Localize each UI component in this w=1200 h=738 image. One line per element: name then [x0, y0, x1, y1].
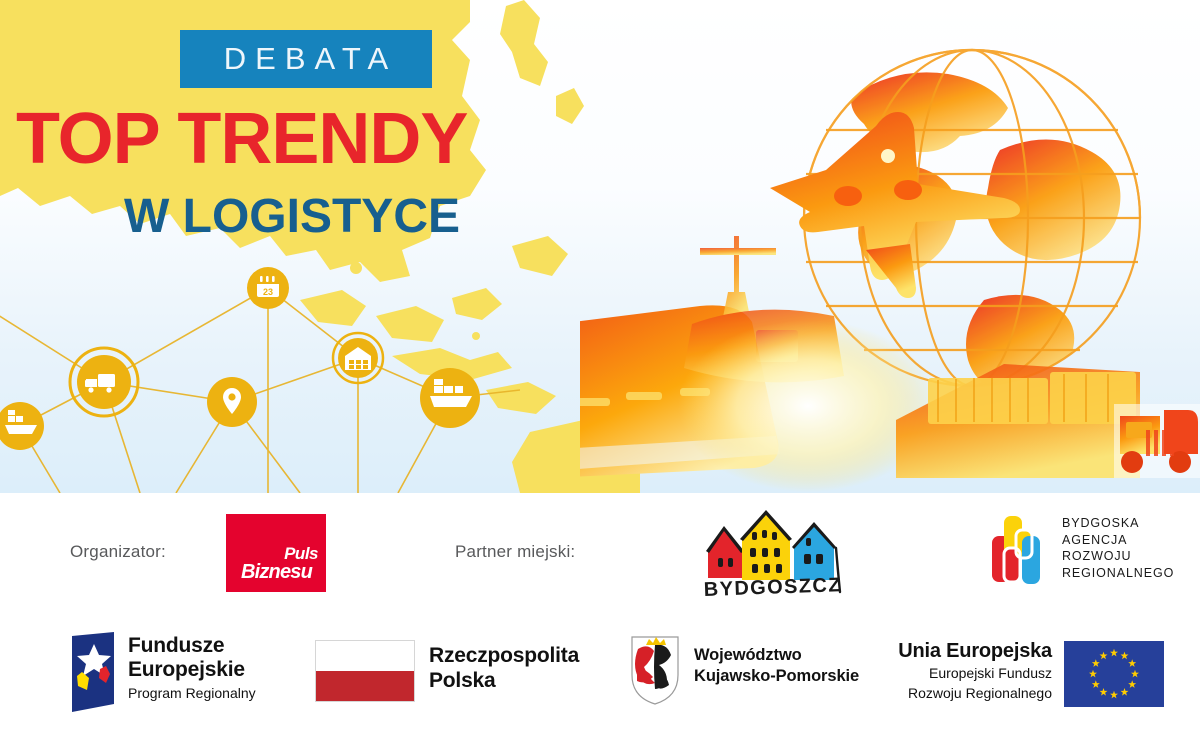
fundusze-title-2: Europejskie [128, 658, 256, 682]
city-partner-label: Partner miejski: [455, 542, 575, 562]
warehouse-icon [333, 333, 383, 383]
bydgoszcz-logo[interactable]: BYDGOSZCZ [690, 508, 850, 600]
unia-subtitle-1: Europejski Fundusz [880, 665, 1052, 683]
eu-flag-icon [1064, 641, 1164, 707]
house-red-icon [706, 526, 744, 578]
organizer-label: Organizator: [70, 542, 166, 562]
headline-block: DEBATA TOP TRENDY W LOGISTYCE [0, 0, 640, 280]
trucks-graphic [1114, 404, 1200, 478]
calendar-day-label: 23 [263, 287, 273, 297]
wojewodztwo-text: Województwo Kujawsko-Pomorskie [694, 645, 859, 687]
promo-banner: 23 [0, 0, 1200, 738]
debata-badge: DEBATA [180, 30, 432, 88]
truck-icon [70, 348, 138, 416]
fundusze-mark-icon [66, 632, 118, 712]
unia-subtitle-2: Rozwoju Regionalnego [880, 685, 1052, 703]
unia-europejska-logo[interactable]: Unia Europejska Europejski Fundusz Rozwo… [880, 637, 1180, 713]
unia-title: Unia Europejska [880, 639, 1052, 663]
wojewodztwo-title-2: Kujawsko-Pomorskie [694, 666, 859, 687]
hero-section: 23 [0, 0, 1200, 493]
barr-line-2: AGENCJA [1062, 532, 1174, 549]
barr-text: BYDGOSKA AGENCJA ROZWOJU REGIONALNEGO [1062, 515, 1174, 581]
title-line-1: TOP TRENDY [16, 103, 467, 175]
rzeczpospolita-text: Rzeczpospolita Polska [429, 643, 579, 693]
barr-logo[interactable]: BYDGOSKA AGENCJA ROZWOJU REGIONALNEGO [990, 512, 1186, 592]
house-yellow-icon [740, 510, 792, 580]
fundusze-text: Fundusze Europejskie Program Regionalny [128, 634, 256, 702]
logistics-node-network: 23 [0, 250, 520, 493]
wojewodztwo-title-1: Województwo [694, 645, 859, 666]
barr-line-1: BYDGOSKA [1062, 515, 1174, 532]
bydgoszcz-wordmark: BYDGOSZCZ [703, 574, 842, 600]
flag-stripe-red [316, 671, 414, 701]
puls-biznesu-line1: Puls [226, 546, 318, 562]
cargo-ship-icon [420, 368, 480, 428]
flag-stripe-white [316, 641, 414, 671]
house-blue-icon [792, 522, 836, 580]
polish-flag-icon [315, 640, 415, 702]
debata-badge-label: DEBATA [215, 41, 397, 77]
fundusze-title-1: Fundusze [128, 634, 256, 658]
barr-line-3: ROZWOJU [1062, 548, 1174, 565]
barr-line-4: REGIONALNEGO [1062, 565, 1174, 582]
puls-biznesu-logo[interactable]: Puls Biznesu [226, 514, 326, 592]
rzeczpospolita-polska-logo[interactable]: Rzeczpospolita Polska [315, 637, 595, 709]
wojewodztwo-kujawsko-pomorskie-logo[interactable]: Województwo Kujawsko-Pomorskie [628, 633, 888, 713]
kujawsko-pomorskie-crest-icon [628, 633, 682, 707]
location-pin-icon [207, 377, 257, 427]
fundusze-europejskie-logo[interactable]: Fundusze Europejskie Program Regionalny [66, 628, 281, 716]
airplane-graphic [770, 112, 1020, 298]
rzeczpospolita-title-1: Rzeczpospolita [429, 643, 579, 668]
fundusze-subtitle: Program Regionalny [128, 684, 256, 702]
transport-collage [580, 0, 1200, 493]
barr-mark-icon [990, 514, 1052, 588]
rzeczpospolita-title-2: Polska [429, 668, 579, 693]
cargo-ship-icon [0, 402, 44, 450]
title-line-2: W LOGISTYCE [124, 193, 460, 241]
puls-biznesu-line2: Biznesu [232, 563, 321, 582]
shipping-containers-graphic [896, 364, 1140, 478]
unia-europejska-text: Unia Europejska Europejski Fundusz Rozwo… [880, 639, 1052, 702]
